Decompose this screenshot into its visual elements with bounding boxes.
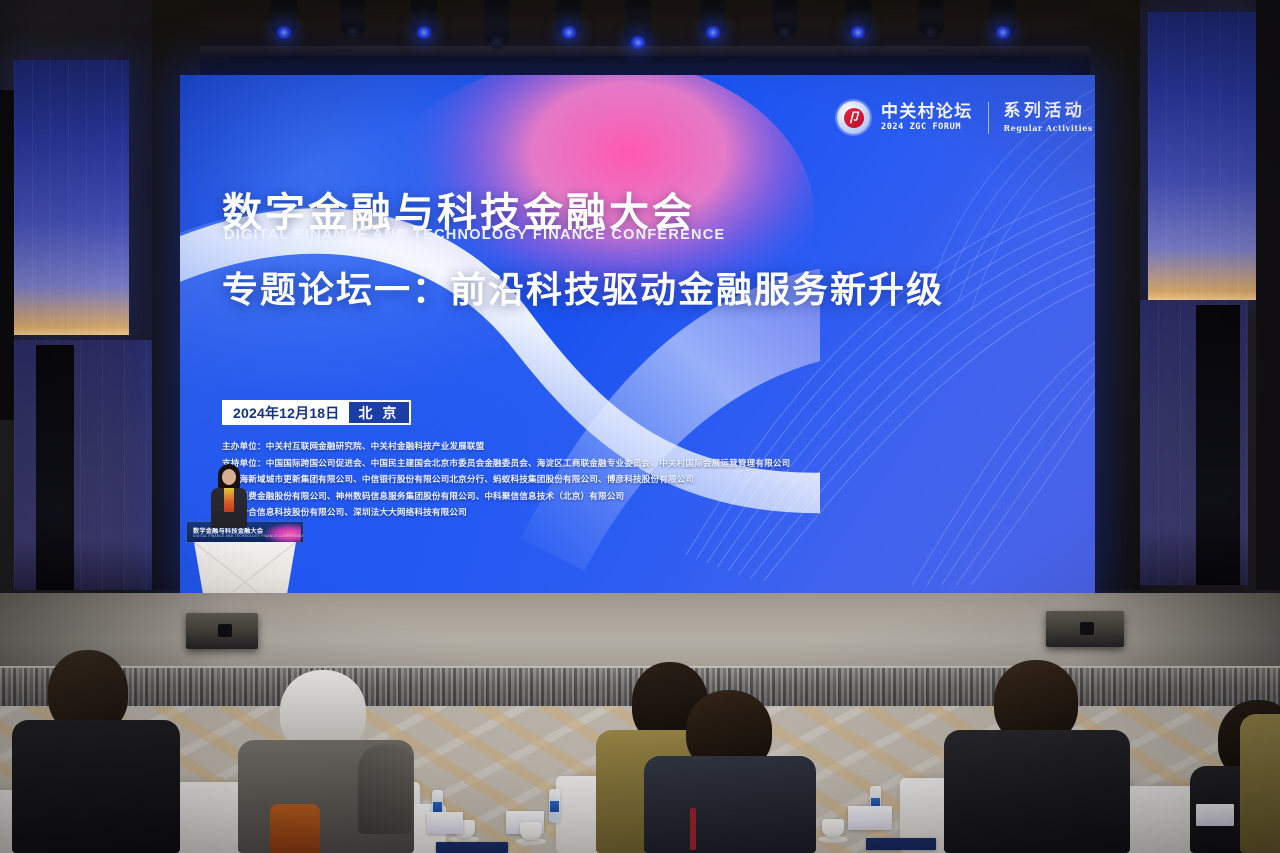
wall-recess-right [1090, 0, 1140, 590]
stage-light-icon [625, 0, 651, 44]
place-name-card [848, 806, 892, 830]
wall-panel-lit-right [1148, 12, 1260, 300]
speaker-scarf [224, 488, 234, 512]
fineprint-line: 北京海新域城市更新集团有限公司、中信银行股份有限公司北京分行、蚂蚁科技集团股份有… [222, 471, 912, 488]
fineprint-line: 主办单位：中关村互联网金融研究院、中关村金融科技产业发展联盟 [222, 438, 912, 455]
stage-light-icon [271, 0, 297, 34]
audience-member [648, 690, 808, 853]
speaker-face [222, 469, 236, 485]
speaker-presenter [209, 466, 249, 526]
wall-right [1090, 0, 1280, 690]
stage-light-icon [411, 0, 437, 34]
stage-light-icon [918, 0, 944, 34]
logo-divider [988, 102, 989, 134]
wall-panel-lower-left [14, 340, 152, 590]
audience-member [1240, 704, 1280, 853]
program-card [436, 842, 508, 853]
stage-monitor-speaker [1046, 611, 1124, 647]
date-location-badge: 2024年12月18日 北 京 [222, 400, 411, 425]
stage-monitor-speaker [186, 613, 258, 649]
audience-torso [944, 730, 1130, 853]
wall-panel-lit-left [14, 60, 129, 335]
audience-torso [644, 756, 816, 853]
podium-banner-en: DIGITAL FINANCE AND TECHNOLOGY FINANCE C… [193, 534, 304, 538]
fineprint-line: 上海合合信息科技股份有限公司、深圳法大大网络科技有限公司 [222, 504, 912, 521]
side-door-left [36, 345, 74, 590]
stage-light-icon [700, 0, 726, 34]
fineprint-line: 支持单位：中国国际跨国公司促进会、中国民主建国会北京市委员会金融委员会、海淀区工… [222, 455, 912, 472]
audience-torso [12, 720, 180, 853]
conference-hall-photo: 中关村论坛 2024 ZGC FORUM 系列活动 Regular Activi… [0, 0, 1280, 853]
stage-light-icon [484, 0, 510, 44]
logo-cn-name: 中关村论坛 [881, 103, 973, 121]
forum-subtitle-cn: 专题论坛一：前沿科技驱动金融服务新升级 [222, 261, 944, 313]
wall-column-left [0, 90, 14, 420]
audience-torso [1240, 714, 1280, 853]
tea-cup [822, 819, 844, 837]
audience-scarf [270, 804, 320, 853]
stage-light-icon [556, 0, 582, 34]
place-name-card [427, 812, 463, 834]
audience-member [960, 660, 1110, 853]
event-city: 北 京 [349, 402, 410, 423]
zgc-emblem-icon [837, 101, 870, 134]
organizer-fineprint: 主办单位：中关村互联网金融研究院、中关村金融科技产业发展联盟 支持单位：中国国际… [222, 438, 912, 521]
stage-light-icon [845, 0, 871, 34]
event-date: 2024年12月18日 [224, 402, 349, 423]
tea-cup [520, 822, 542, 840]
stage-light-icon [990, 0, 1016, 34]
side-door-right [1196, 305, 1240, 585]
cup-saucer [818, 836, 848, 843]
conference-title-en: DIGITAL FINANCE AND TECHNOLOGY FINANCE C… [224, 227, 725, 243]
podium-banner-swoosh-icon [263, 523, 301, 543]
led-stage-screen: 中关村论坛 2024 ZGC FORUM 系列活动 Regular Activi… [180, 75, 1095, 593]
audience-member [230, 670, 420, 853]
audience-arm [358, 744, 412, 834]
place-name-card [1196, 804, 1234, 826]
logo-cn-tag: 系列活动 [1004, 102, 1093, 120]
logo-en-tag: Regular Activities [1004, 123, 1093, 133]
stage-light-icon [772, 0, 798, 34]
wall-left [0, 0, 200, 690]
zgc-forum-logo: 中关村论坛 2024 ZGC FORUM 系列活动 Regular Activi… [837, 101, 1093, 134]
guest-lanyard [690, 808, 696, 850]
stage-light-icon [340, 0, 366, 34]
logo-en-name: 2024 ZGC FORUM [881, 122, 973, 132]
audience-member [18, 650, 168, 853]
lighting-truss-secondary [230, 56, 1050, 63]
wall-column-right [1256, 0, 1280, 590]
program-card [866, 838, 936, 850]
water-bottle [549, 789, 560, 823]
fineprint-line: 马上消费金融股份有限公司、神州数码信息服务集团股份有限公司、中科聚信信息技术（北… [222, 488, 912, 505]
